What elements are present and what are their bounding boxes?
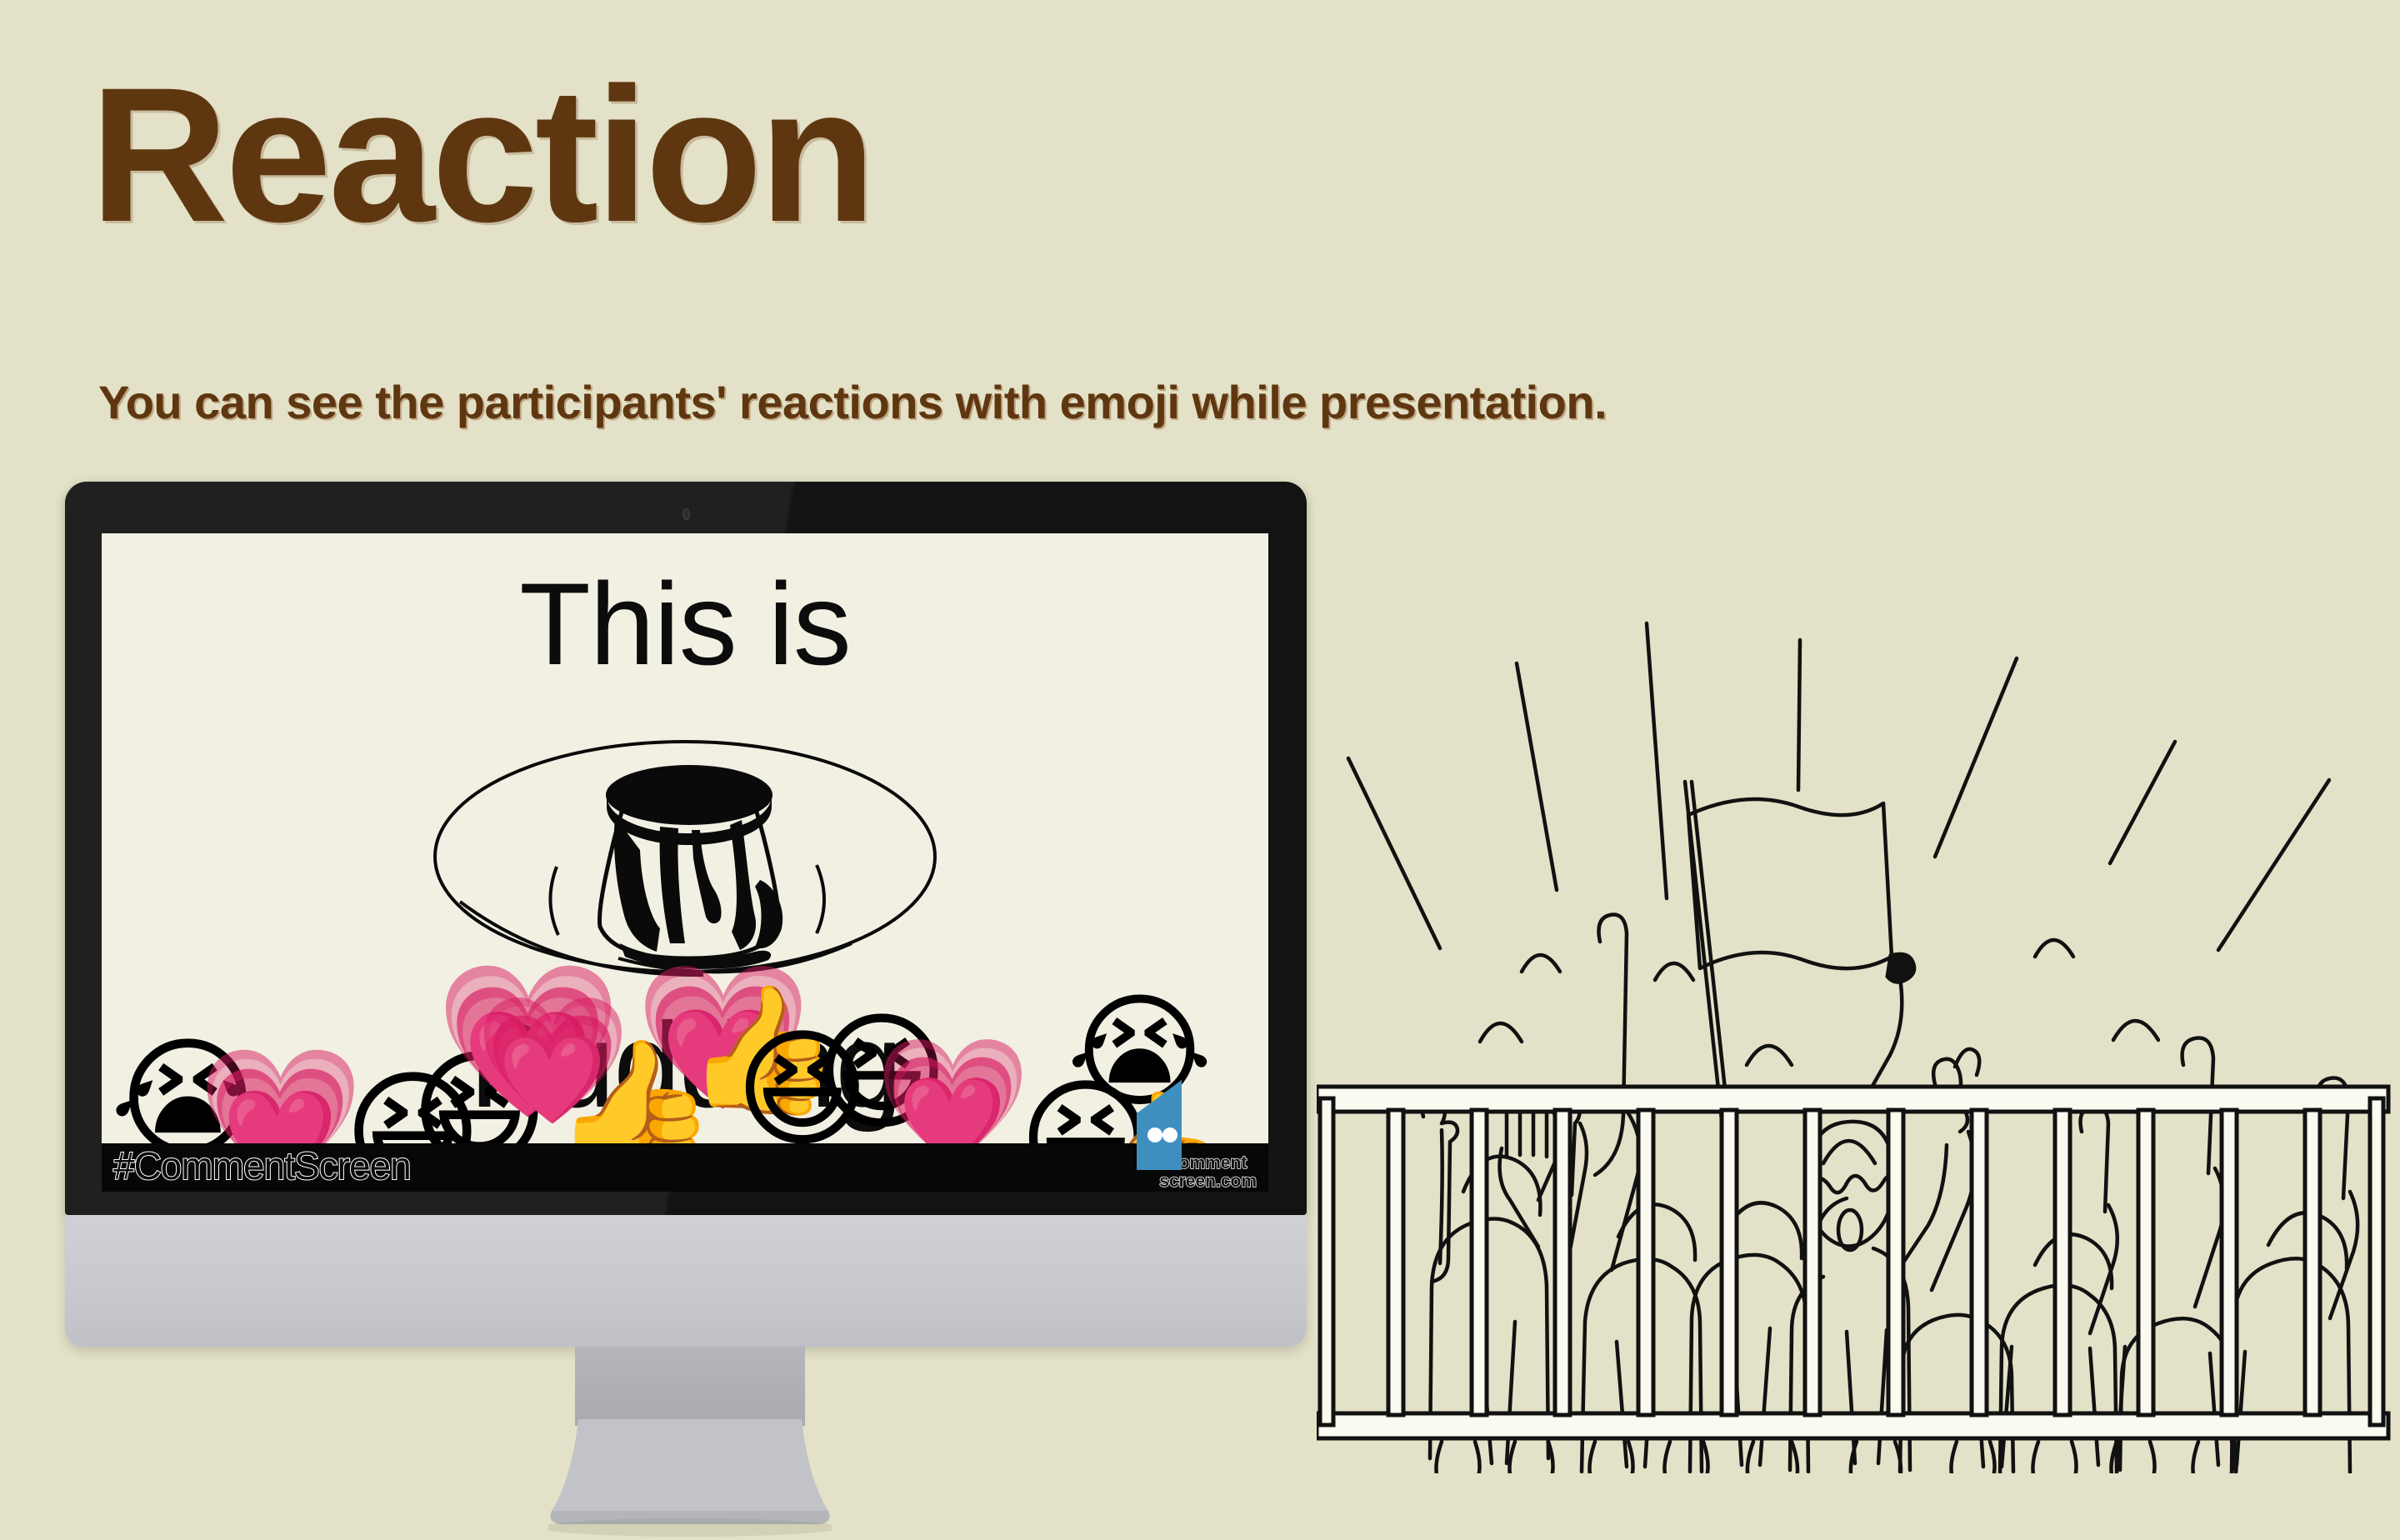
imac-mockup: This is bbox=[65, 482, 1307, 1469]
cheering-crowd-illustration bbox=[1317, 515, 2392, 1473]
slide-heading-top: This is bbox=[102, 557, 1268, 692]
webcam-icon bbox=[682, 508, 690, 520]
monitor-display[interactable]: This is bbox=[102, 533, 1268, 1192]
monitor-stand-foot bbox=[548, 1419, 832, 1540]
monitor-neck bbox=[575, 1347, 805, 1426]
monitor-chin bbox=[65, 1215, 1307, 1347]
page-title: Reaction bbox=[90, 65, 872, 245]
page-subtitle: You can see the participants' reactions … bbox=[98, 375, 1607, 429]
site-watermark-line2: screen.com bbox=[1159, 1172, 1257, 1190]
letterbox-bar: #CommentScreen comment screen.com bbox=[102, 1143, 1268, 1192]
hashtag-watermark: #CommentScreen bbox=[113, 1143, 411, 1188]
slide-root: Reaction You can see the participants' r… bbox=[0, 0, 2400, 1517]
comment-screen-logo-icon bbox=[1133, 1080, 1195, 1173]
